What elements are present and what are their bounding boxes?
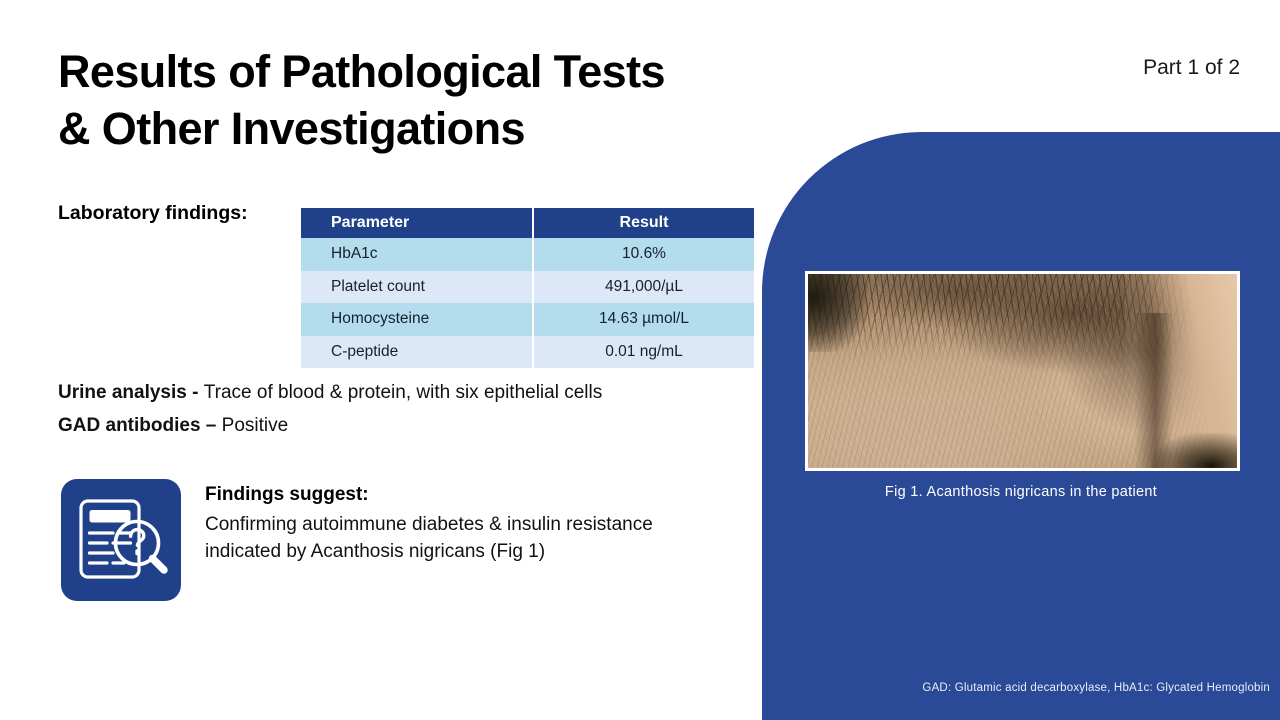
column-header-result: Result [533,208,754,238]
urine-analysis-line: Urine analysis - Trace of blood & protei… [58,382,602,404]
table-header-row: Parameter Result [301,208,754,238]
cell-result: 0.01 ng/mL [533,336,754,369]
cell-parameter: Homocysteine [301,303,533,336]
urine-analysis-separator: - [187,382,204,403]
cell-parameter: HbA1c [301,238,533,271]
table-row: Platelet count 491,000/µL [301,271,754,304]
photo-bottom-shadow [1151,433,1237,468]
urine-analysis-value: Trace of blood & protein, with six epith… [204,382,603,403]
urine-analysis-label: Urine analysis [58,382,187,403]
table-row: Homocysteine 14.63 µmol/L [301,303,754,336]
photo-corner-shadow [808,274,868,352]
abbreviations-footnote: GAD: Glutamic acid decarboxylase, HbA1c:… [762,682,1270,694]
document-magnifier-question-glyph [61,479,181,601]
part-indicator: Part 1 of 2 [1143,56,1240,80]
findings-body: Confirming autoimmune diabetes & insulin… [205,512,675,566]
lab-results-table: Parameter Result HbA1c 10.6% Platelet co… [301,208,754,368]
column-header-parameter: Parameter [301,208,533,238]
table-row: C-peptide 0.01 ng/mL [301,336,754,369]
cell-result: 491,000/µL [533,271,754,304]
page-title-line-1: Results of Pathological Tests [58,44,838,101]
figure-image-frame [805,271,1240,471]
table-row: HbA1c 10.6% [301,238,754,271]
gad-antibodies-value: Positive [222,415,289,436]
findings-suggest-block: Findings suggest: Confirming autoimmune … [205,484,675,566]
page-title-line-2: & Other Investigations [58,101,838,158]
gad-antibodies-label: GAD antibodies [58,415,201,436]
lab-findings-label: Laboratory findings: [58,202,248,225]
gad-antibodies-line: GAD antibodies – Positive [58,415,288,437]
document-magnifier-question-icon [61,479,181,601]
gad-antibodies-separator: – [201,415,222,436]
cell-result: 14.63 µmol/L [533,303,754,336]
findings-heading: Findings suggest: [205,484,675,506]
cell-parameter: Platelet count [301,271,533,304]
page-title: Results of Pathological Tests & Other In… [58,44,838,157]
cell-result: 10.6% [533,238,754,271]
figure-caption: Fig 1. Acanthosis nigricans in the patie… [762,484,1280,500]
figure-panel: Fig 1. Acanthosis nigricans in the patie… [762,132,1280,720]
cell-parameter: C-peptide [301,336,533,369]
clinical-photo [808,274,1237,468]
